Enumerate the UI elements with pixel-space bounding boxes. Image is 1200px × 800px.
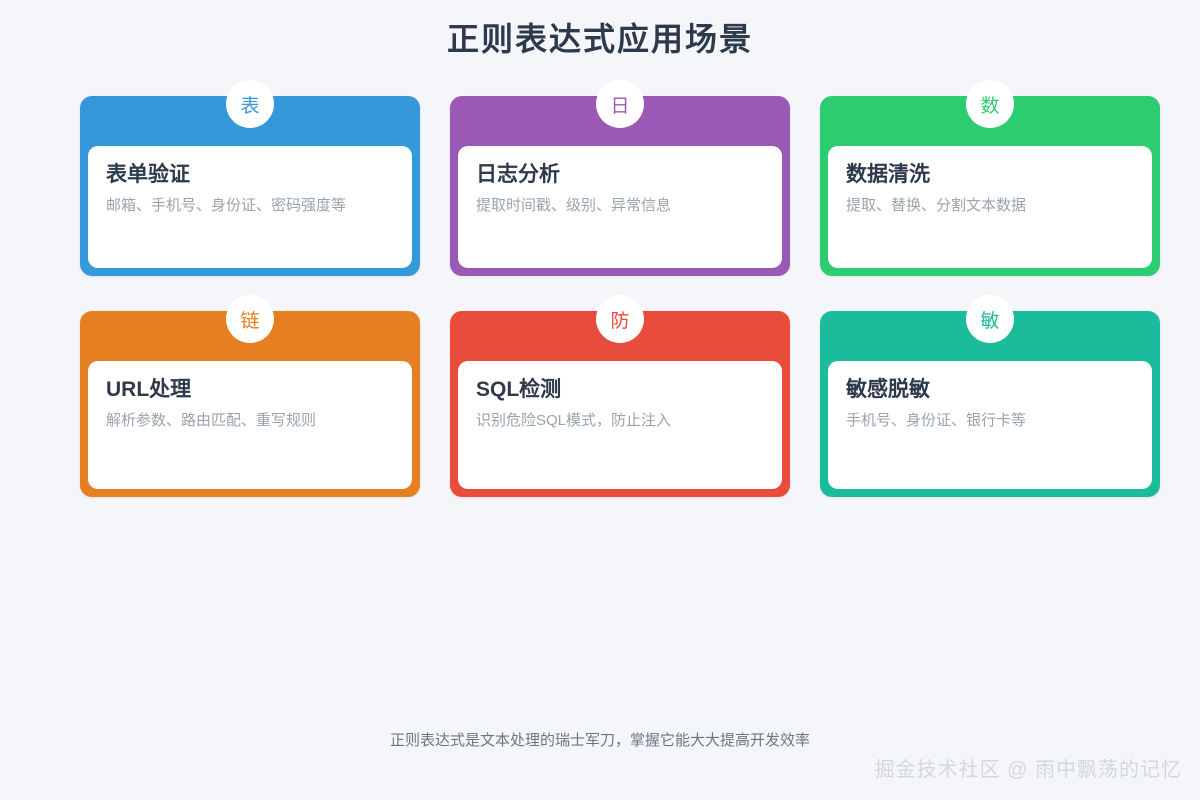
page-title: 正则表达式应用场景	[0, 16, 1200, 62]
card-description: 提取时间戳、级别、异常信息	[476, 194, 764, 218]
card-body: URL处理 解析参数、路由匹配、重写规则	[88, 361, 412, 489]
card-title: 日志分析	[476, 160, 764, 190]
card-badge-icon: 链	[226, 295, 274, 343]
card-body: 敏感脱敏 手机号、身份证、银行卡等	[828, 361, 1152, 489]
watermark: 掘金技术社区 @ 雨中飘荡的记忆	[875, 755, 1182, 785]
footer-note: 正则表达式是文本处理的瑞士军刀，掌握它能大大提高开发效率	[0, 730, 1200, 752]
scenario-card-grid: 表 表单验证 邮箱、手机号、身份证、密码强度等 日 日志分析 提取时间戳、级别、…	[80, 96, 1160, 497]
scenario-card-url-processing[interactable]: 链 URL处理 解析参数、路由匹配、重写规则	[80, 311, 420, 497]
card-badge-icon: 日	[596, 80, 644, 128]
card-badge-icon: 防	[596, 295, 644, 343]
page-root: 正则表达式应用场景 表 表单验证 邮箱、手机号、身份证、密码强度等 日 日志分析…	[0, 0, 1200, 800]
card-title: SQL检测	[476, 375, 764, 405]
card-title: 表单验证	[106, 160, 394, 190]
card-title: 敏感脱敏	[846, 375, 1134, 405]
card-description: 邮箱、手机号、身份证、密码强度等	[106, 194, 394, 218]
scenario-card-data-cleaning[interactable]: 数 数据清洗 提取、替换、分割文本数据	[820, 96, 1160, 276]
card-description: 解析参数、路由匹配、重写规则	[106, 409, 394, 433]
card-title: 数据清洗	[846, 160, 1134, 190]
card-body: SQL检测 识别危险SQL模式，防止注入	[458, 361, 782, 489]
card-body: 数据清洗 提取、替换、分割文本数据	[828, 146, 1152, 268]
card-badge-icon: 表	[226, 80, 274, 128]
card-badge-icon: 敏	[966, 295, 1014, 343]
scenario-card-log-analysis[interactable]: 日 日志分析 提取时间戳、级别、异常信息	[450, 96, 790, 276]
card-description: 识别危险SQL模式，防止注入	[476, 409, 764, 433]
scenario-card-form-validation[interactable]: 表 表单验证 邮箱、手机号、身份证、密码强度等	[80, 96, 420, 276]
card-badge-icon: 数	[966, 80, 1014, 128]
card-body: 表单验证 邮箱、手机号、身份证、密码强度等	[88, 146, 412, 268]
scenario-card-data-masking[interactable]: 敏 敏感脱敏 手机号、身份证、银行卡等	[820, 311, 1160, 497]
card-description: 手机号、身份证、银行卡等	[846, 409, 1134, 433]
card-body: 日志分析 提取时间戳、级别、异常信息	[458, 146, 782, 268]
card-title: URL处理	[106, 375, 394, 405]
scenario-card-sql-detection[interactable]: 防 SQL检测 识别危险SQL模式，防止注入	[450, 311, 790, 497]
card-description: 提取、替换、分割文本数据	[846, 194, 1134, 218]
